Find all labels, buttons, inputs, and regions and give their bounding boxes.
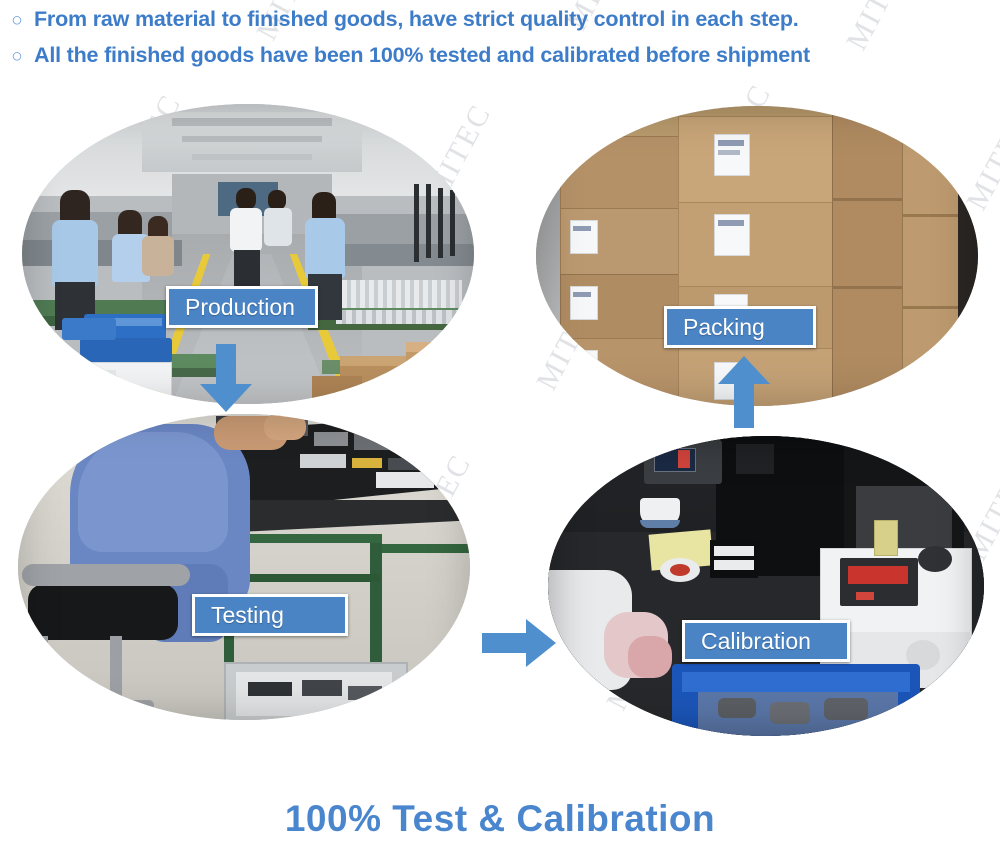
photo-testing	[18, 414, 470, 720]
bullet-text-1: From raw material to finished goods, hav…	[34, 4, 799, 34]
bullet-marker-icon: ○	[0, 47, 34, 66]
bullet-item-2: ○ All the finished goods have been 100% …	[0, 40, 1000, 70]
label-packing: Packing	[667, 314, 781, 341]
bullet-marker-icon: ○	[0, 11, 34, 30]
header-bullet-list: ○ From raw material to finished goods, h…	[0, 4, 1000, 76]
photo-calibration	[548, 436, 984, 736]
label-plate-production: Production	[166, 286, 318, 328]
label-testing: Testing	[195, 602, 300, 629]
arrow-calibration-to-packing	[714, 356, 774, 428]
arrow-production-to-testing	[196, 344, 256, 412]
label-plate-calibration: Calibration	[682, 620, 850, 662]
label-plate-testing: Testing	[192, 594, 348, 636]
bullet-item-1: ○ From raw material to finished goods, h…	[0, 4, 1000, 34]
label-production: Production	[169, 294, 311, 321]
arrow-testing-to-calibration	[482, 618, 558, 668]
label-calibration: Calibration	[685, 628, 827, 655]
footer-title: 100% Test & Calibration	[0, 798, 1000, 840]
label-plate-packing: Packing	[664, 306, 816, 348]
bullet-text-2: All the finished goods have been 100% te…	[34, 40, 810, 70]
